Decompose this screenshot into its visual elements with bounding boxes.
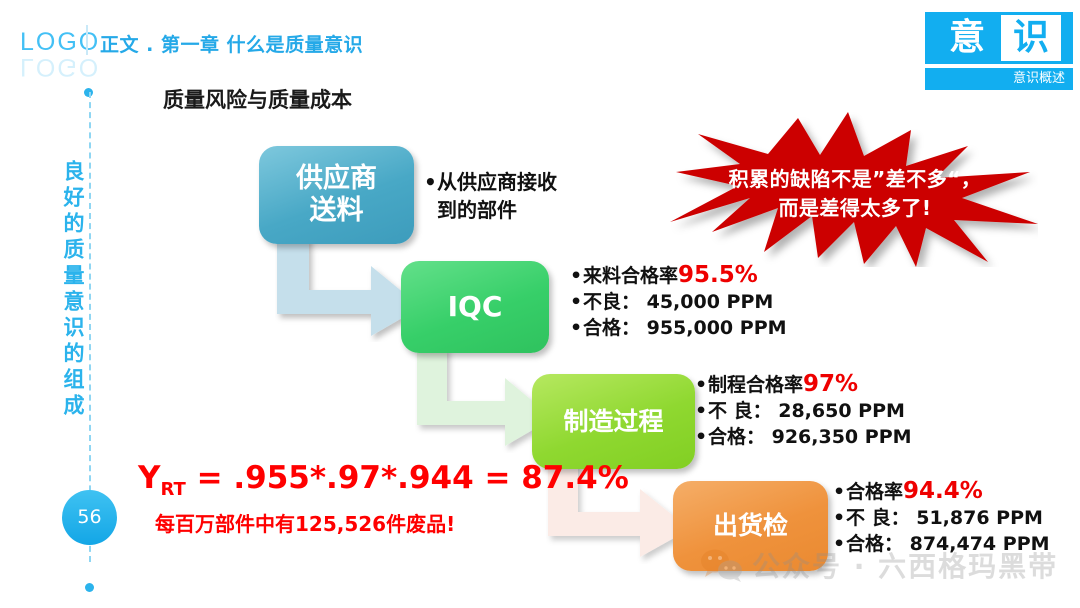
bullets-iqc: •来料合格率95.5% •不良： 45,000 PPM •合格： 955,000… — [570, 262, 787, 341]
formula-note: 每百万部件中有125,526件废品! — [155, 508, 455, 537]
bullet-highlight-value: 97% — [803, 371, 858, 397]
watermark-text: 公众号 · 六西格玛黑带 — [752, 545, 1058, 585]
page-title: 质量风险与质量成本 — [163, 84, 352, 114]
bullet-item: •不良： 45,000 PPM — [570, 289, 787, 315]
bullet-text: 合格率 — [846, 481, 903, 503]
bullet-text: 不 良： 51,876 PPM — [846, 507, 1043, 529]
bullet-item: •从供应商接收 — [424, 168, 557, 196]
bullet-dot-icon: • — [695, 424, 708, 450]
logo-reflection: LOGO — [20, 52, 100, 81]
header-divider — [86, 25, 88, 55]
badge-char-2-box: 识 — [1001, 15, 1061, 61]
page-number-badge: 56 — [62, 490, 117, 545]
process-box-mfg-label: 制造过程 — [563, 407, 663, 437]
bullets-supplier: •从供应商接收 到的部件 — [424, 168, 557, 224]
process-box-iqc[interactable]: IQC — [401, 261, 549, 353]
watermark: 公众号 · 六西格玛黑带 — [700, 545, 1058, 585]
process-box-supplier-line1: 供应商 — [296, 163, 377, 195]
bullet-text: 不良： 45,000 PPM — [583, 291, 773, 313]
bullet-item: •不 良： 51,876 PPM — [833, 505, 1050, 531]
bullet-item: 到的部件 — [424, 196, 557, 224]
callout-text: 积累的缺陷不是”差不多“，而是差得太多了! — [720, 165, 990, 223]
bullet-dot-icon: • — [570, 263, 583, 289]
bullet-text: 合格： 926,350 PPM — [708, 426, 912, 448]
bullet-item: •制程合格率97% — [695, 371, 912, 398]
bullet-dot-icon: • — [570, 315, 583, 341]
formula-symbol: Y — [138, 460, 160, 496]
process-box-ship-label: 出货检 — [713, 511, 788, 541]
bullet-dot-icon: • — [695, 372, 708, 398]
formula-yrt: YRT = .955*.97*.944 = 87.4% — [138, 460, 629, 500]
header-title: 正文 . 第一章 什么是质量意识 — [100, 30, 363, 57]
bullet-dot-icon: • — [424, 168, 437, 196]
bullet-dot-icon: • — [833, 505, 846, 531]
bullets-mfg: •制程合格率97% •不 良： 28,650 PPM •合格： 926,350 … — [695, 371, 912, 450]
bullet-text: 制程合格率 — [708, 374, 803, 396]
bullet-item: •不 良： 28,650 PPM — [695, 398, 912, 424]
wechat-icon — [700, 548, 744, 582]
rail-vertical-label: 良好的质量意识的组成 — [52, 160, 86, 420]
rail-dot-bottom — [85, 583, 94, 592]
bullet-item: •合格率94.4% — [833, 478, 1050, 505]
section-badge: 意 识 — [925, 12, 1073, 64]
bullet-text: 不 良： 28,650 PPM — [708, 400, 905, 422]
slide-canvas: LOGO LOGO 正文 . 第一章 什么是质量意识 意 识 意识概述 良好的质… — [0, 0, 1080, 608]
bullet-text: 来料合格率 — [583, 265, 678, 287]
bullet-item: •合格： 955,000 PPM — [570, 315, 787, 341]
bullet-text: 合格： 955,000 PPM — [583, 317, 787, 339]
bullet-highlight-value: 94.4% — [903, 478, 983, 504]
formula-expression: = .955*.97*.944 = 87.4% — [186, 460, 629, 496]
process-box-supplier-line2: 送料 — [296, 195, 377, 227]
bullet-dot-icon: • — [570, 289, 583, 315]
process-box-iqc-label: IQC — [448, 290, 503, 323]
process-box-mfg[interactable]: 制造过程 — [532, 374, 695, 469]
process-box-supplier[interactable]: 供应商 送料 — [259, 146, 414, 244]
bullet-text: 从供应商接收 — [437, 170, 557, 194]
formula-subscript: RT — [160, 479, 185, 500]
section-badge-subtitle: 意识概述 — [925, 68, 1073, 90]
bullet-item: •合格： 926,350 PPM — [695, 424, 912, 450]
bullet-dot-icon: • — [833, 479, 846, 505]
badge-char-2: 识 — [1001, 15, 1061, 61]
bullet-dot-icon: • — [695, 398, 708, 424]
bullet-text: 到的部件 — [437, 198, 517, 222]
badge-char-1: 意 — [939, 14, 995, 62]
